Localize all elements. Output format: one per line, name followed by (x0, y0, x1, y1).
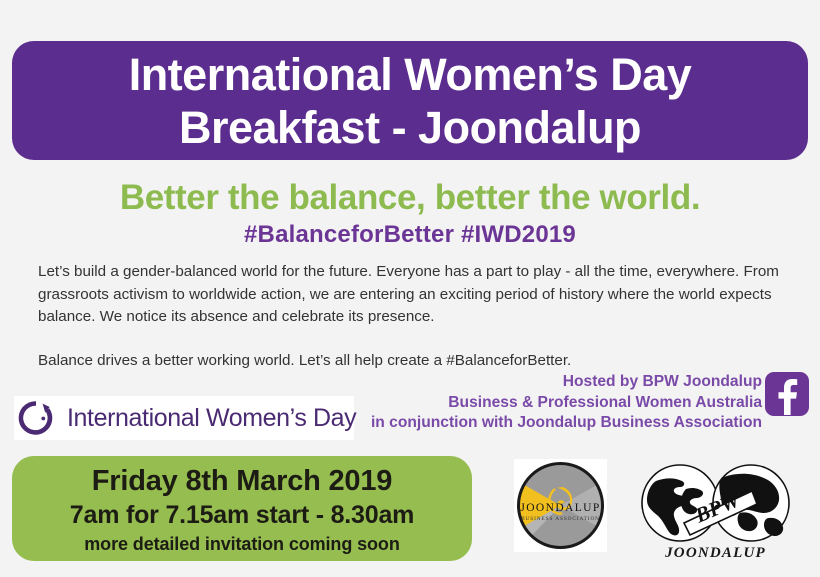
event-date: Friday 8th March 2019 (12, 464, 472, 499)
jba-subtitle: BUSINESS ASSOCIATION (521, 516, 600, 522)
iwd-circle-mark-icon (16, 398, 56, 438)
body-paragraph-2: Balance drives a better working world. L… (38, 350, 798, 373)
joondalup-business-association-logo: JOONDALUP BUSINESS ASSOCIATION (514, 459, 607, 552)
facebook-icon[interactable] (765, 372, 809, 416)
iwd-logo: International Women’s Day (14, 396, 354, 440)
title-line-1: International Women’s Day (129, 48, 692, 101)
date-box: Friday 8th March 2019 7am for 7.15am sta… (12, 456, 472, 561)
tagline: Better the balance, better the world. (0, 178, 820, 218)
title-line-2: Breakfast - Joondalup (179, 101, 641, 154)
hosted-line-2: Business & Professional Women Australia (371, 393, 762, 414)
hosted-line-3: in conjunction with Joondalup Business A… (371, 413, 762, 434)
hashtags: #BalanceforBetter #IWD2019 (0, 221, 820, 249)
body-paragraph-1: Let’s build a gender-balanced world for … (38, 261, 798, 329)
body-copy: Let’s build a gender-balanced world for … (38, 261, 798, 372)
title-banner: International Women’s Day Breakfast - Jo… (12, 41, 808, 160)
hosted-line-1: Hosted by BPW Joondalup (371, 372, 762, 393)
iwd-wordmark: International Women’s Day (67, 404, 356, 432)
hosted-by-block: Hosted by BPW Joondalup Business & Profe… (371, 372, 762, 434)
jba-wordmark: JOONDALUP (520, 502, 600, 514)
bpw-caption: JOONDALUP (624, 545, 807, 562)
event-note: more detailed invitation coming soon (12, 531, 472, 557)
event-time: 7am for 7.15am start - 8.30am (12, 499, 472, 531)
iwd-breakfast-poster: International Women’s Day Breakfast - Jo… (0, 0, 820, 577)
bpw-joondalup-logo: BPW JOONDALUP (624, 463, 807, 563)
